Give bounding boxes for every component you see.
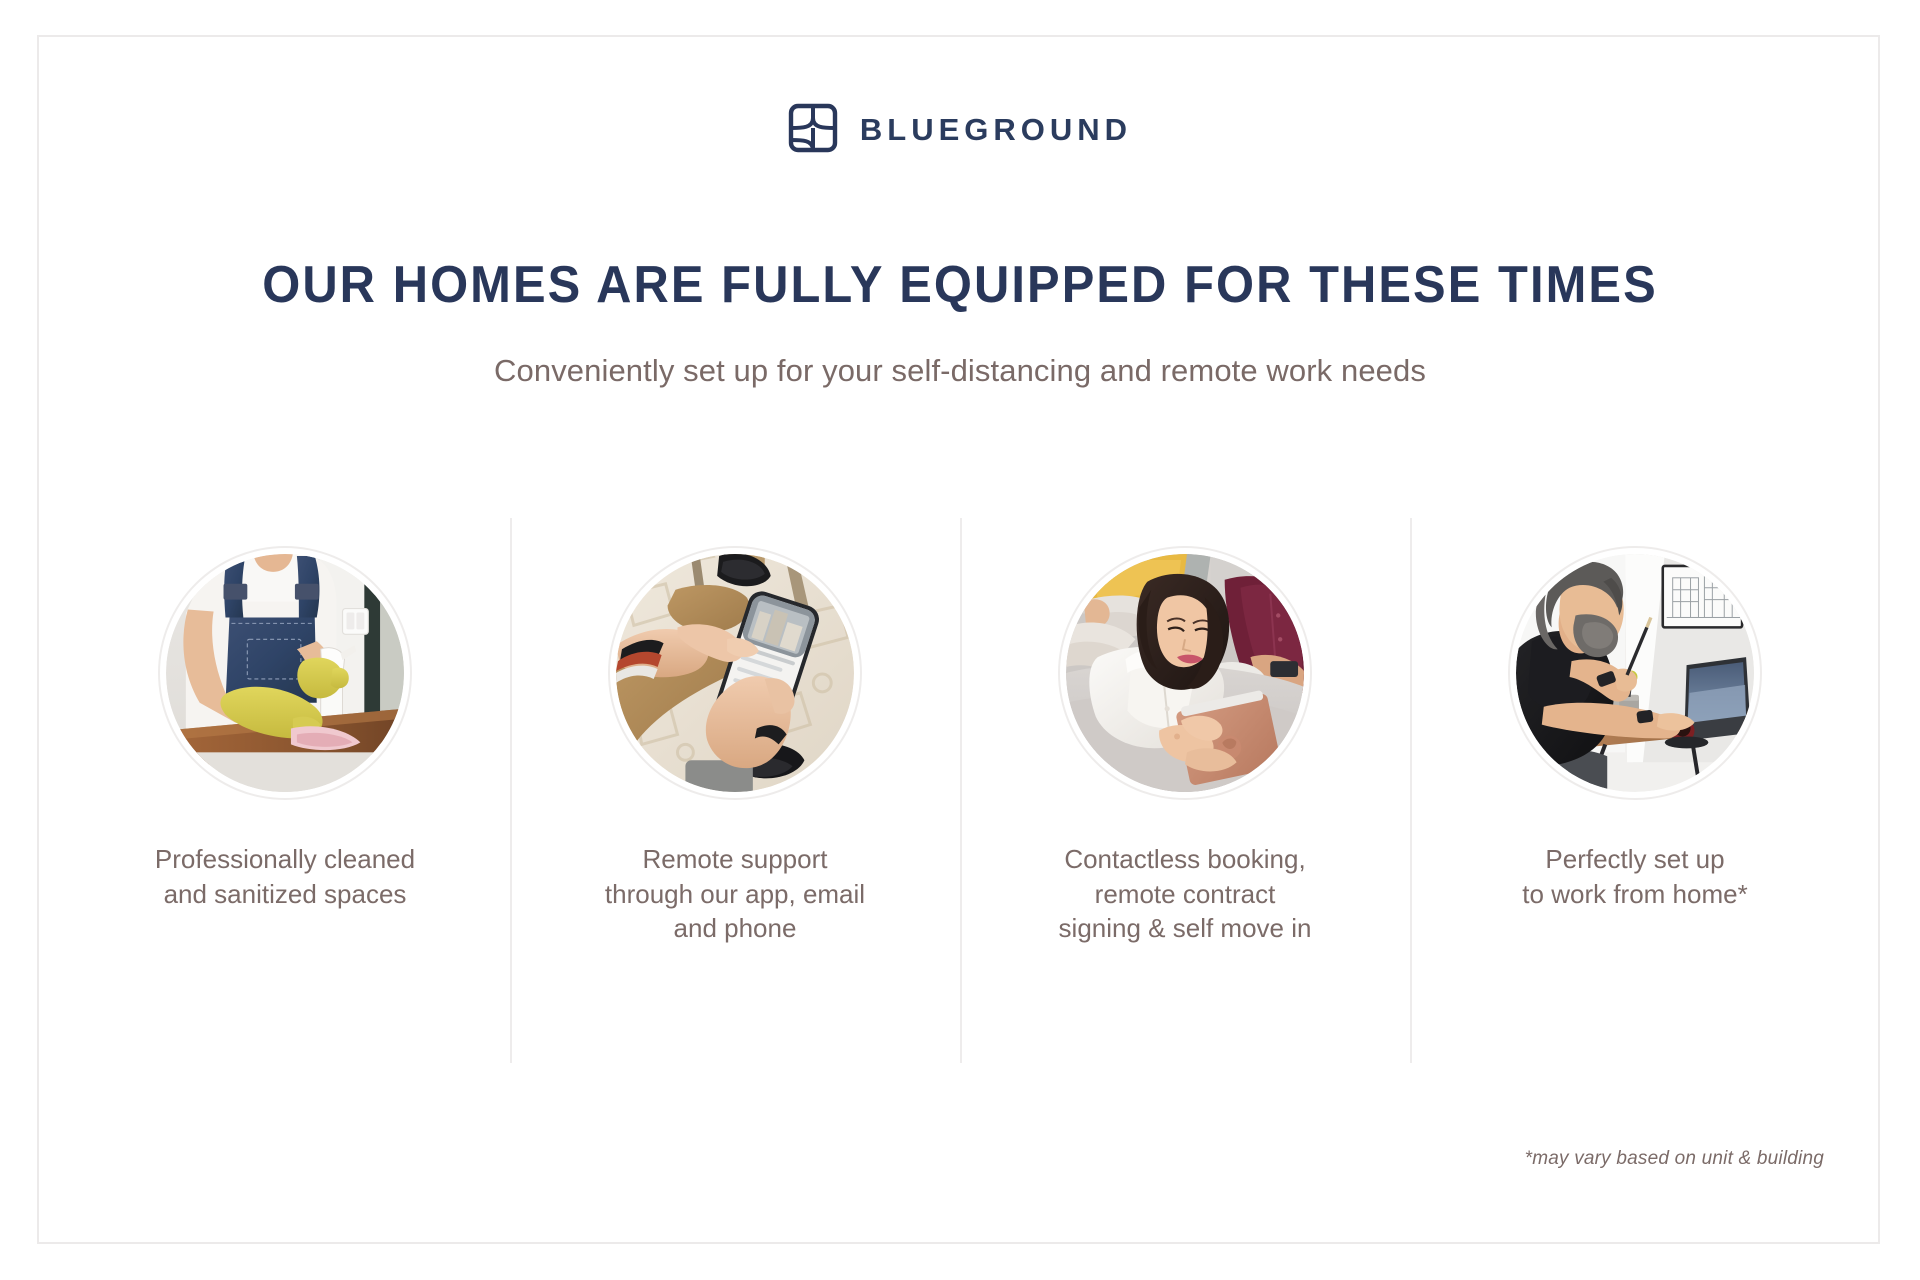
tablet-booking-photo [1066,554,1304,792]
smartphone-app-photo [616,554,854,792]
poster-page: BLUEGROUND OUR HOMES ARE FULLY EQUIPPED … [0,0,1920,1280]
brand-logo[interactable]: BLUEGROUND [0,103,1920,153]
footnote-disclaimer: *may vary based on unit & building [1525,1148,1824,1170]
brand-wordmark: BLUEGROUND [860,112,1132,145]
work-from-home-photo [1516,554,1754,792]
page-subtitle: Conveniently set up for your self-distan… [0,353,1920,389]
wfh-photo-ring [1510,548,1760,798]
page-headline: OUR HOMES ARE FULLY EQUIPPED FOR THESE T… [58,255,1863,315]
feature-caption: Professionally cleaned and sanitized spa… [155,842,415,911]
feature-column-contactless-booking: Contactless booking, remote contract sig… [960,518,1410,1063]
cleaning-person-photo [166,554,404,792]
feature-column-remote-support: Remote support through our app, email an… [510,518,960,1063]
feature-column-work-from-home: Perfectly set up to work from home* [1410,518,1860,1063]
feature-columns: Professionally cleaned and sanitized spa… [60,518,1860,1063]
feature-caption: Perfectly set up to work from home* [1522,842,1747,911]
feature-caption: Remote support through our app, email an… [605,842,865,946]
tablet-photo-ring [1060,548,1310,798]
cleaning-photo-ring [160,548,410,798]
feature-caption: Contactless booking, remote contract sig… [1059,842,1312,946]
phone-photo-ring [610,548,860,798]
blueground-square-mark-icon [788,103,838,153]
feature-column-cleaning: Professionally cleaned and sanitized spa… [60,518,510,1063]
